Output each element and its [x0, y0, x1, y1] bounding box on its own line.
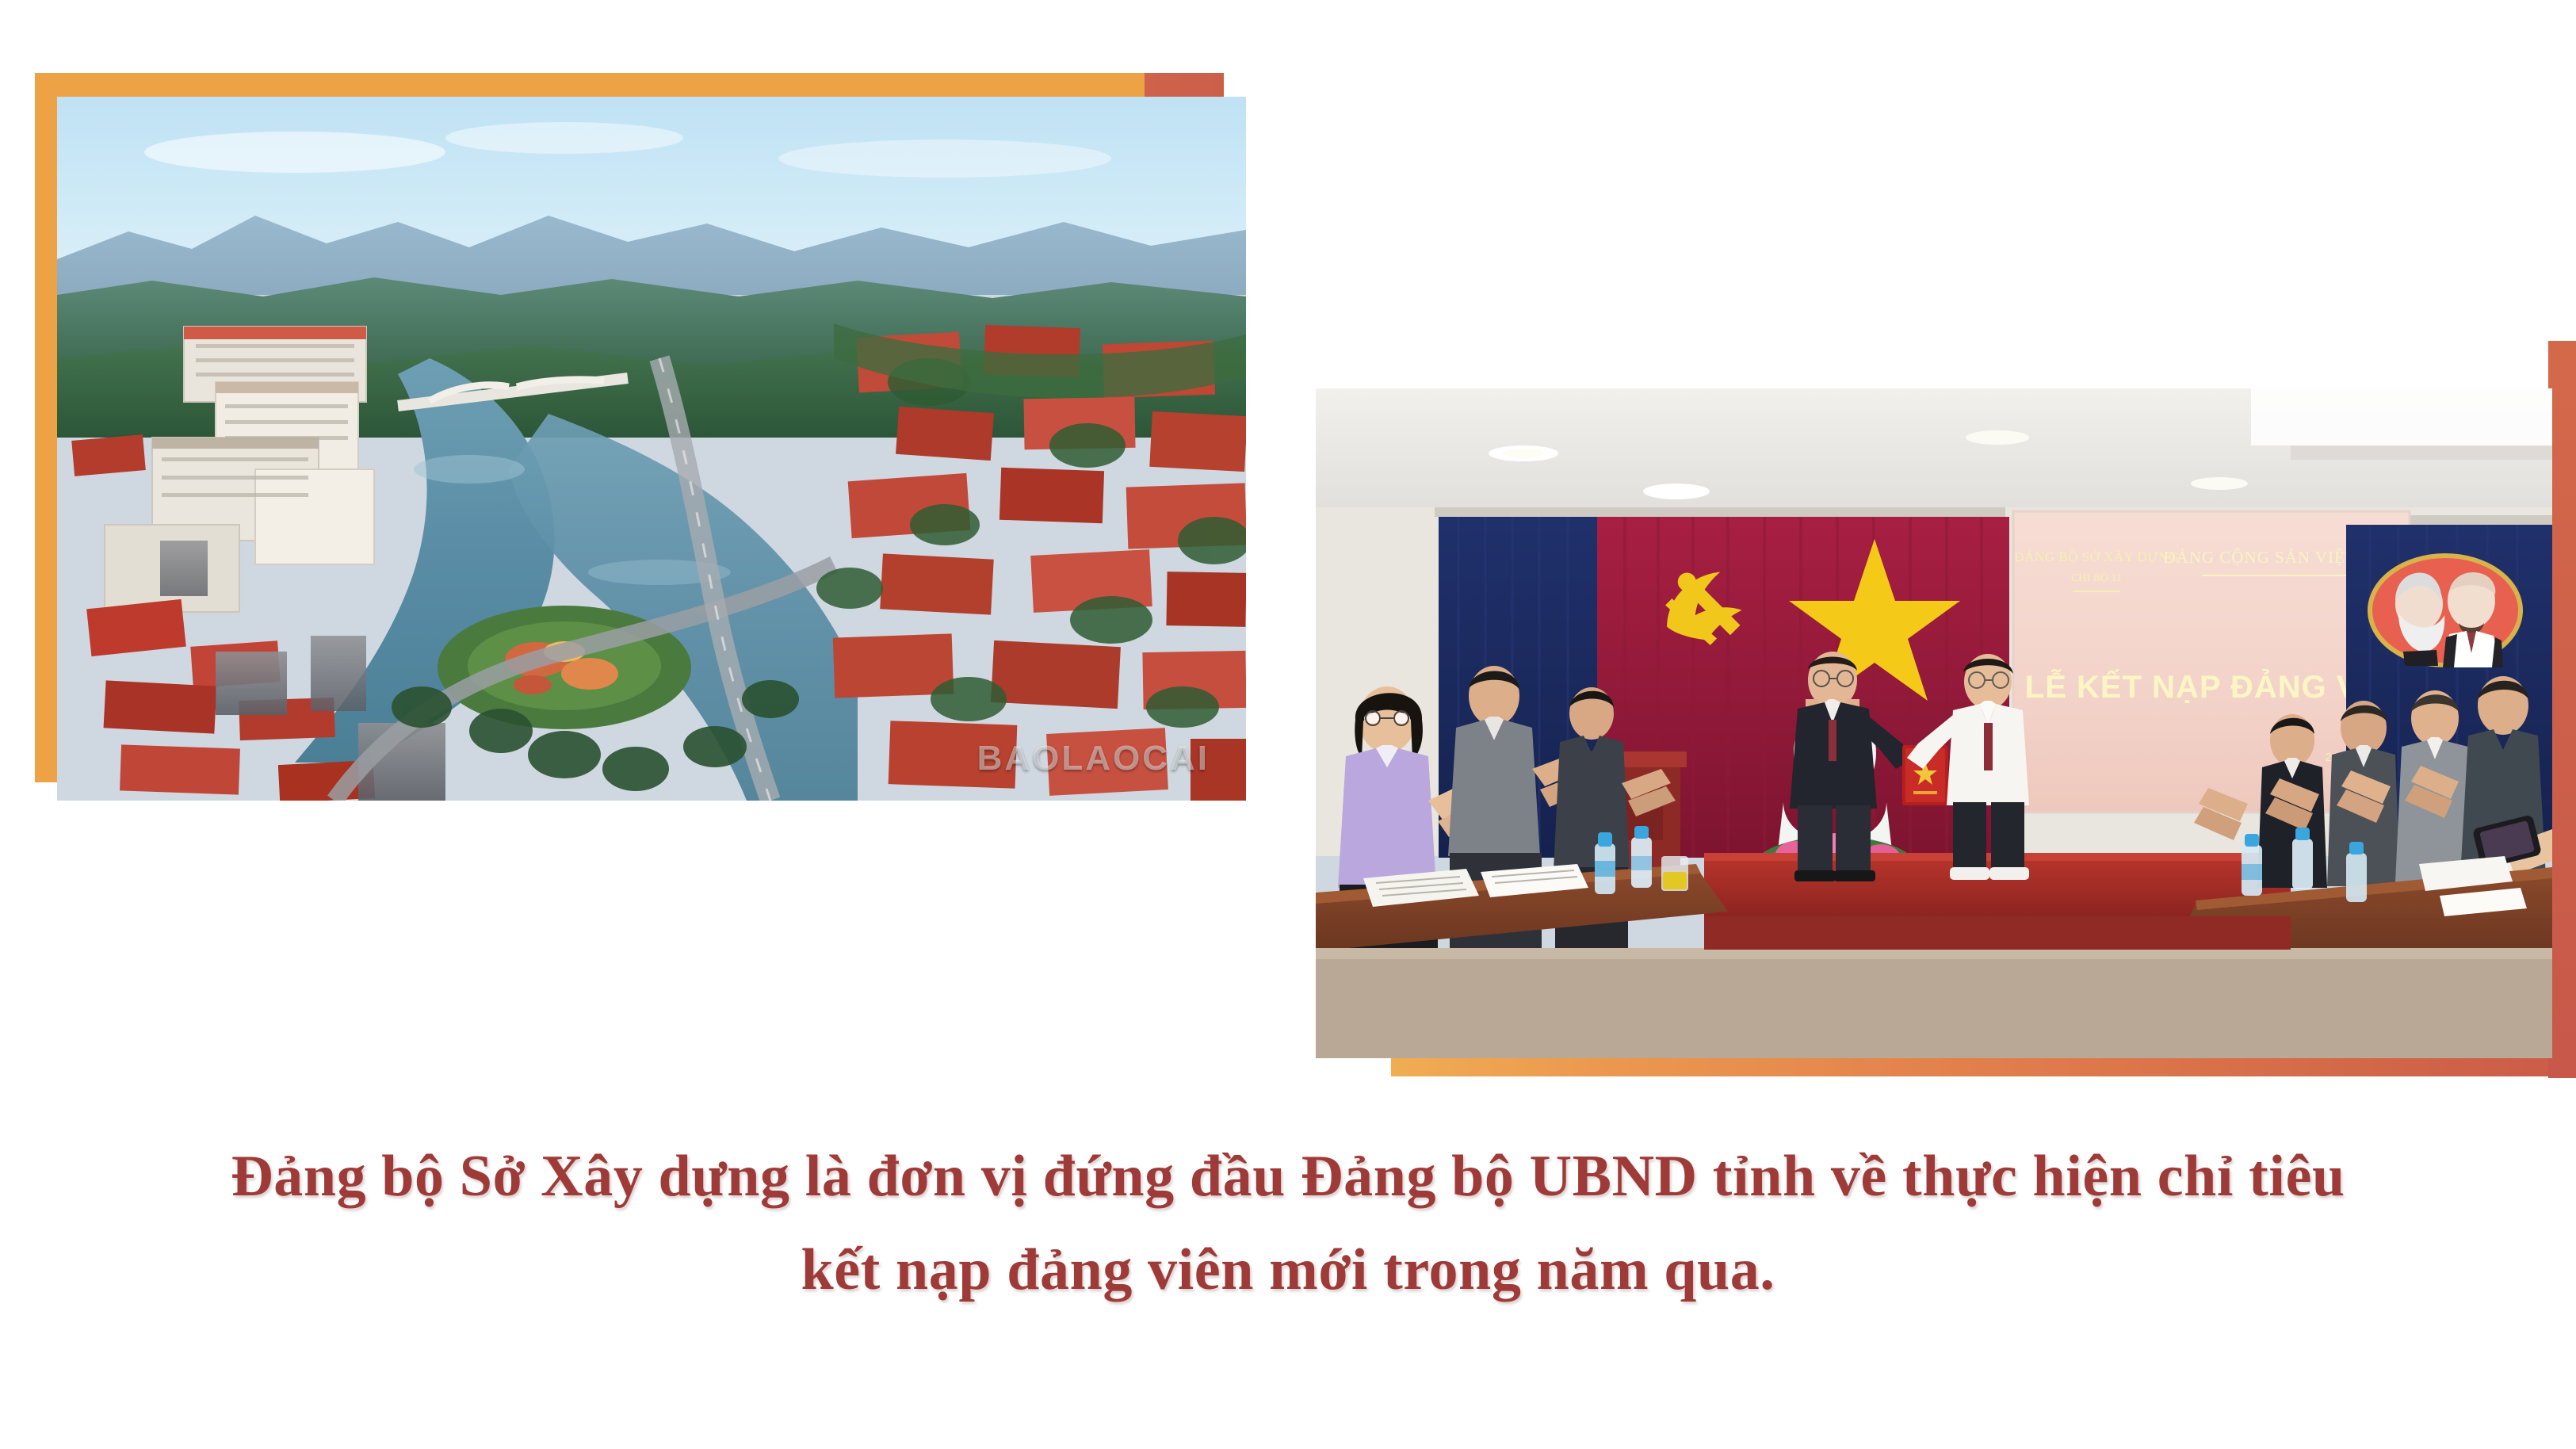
- ceremony-illustration: ĐẢNG BỘ SỞ XÂY DỰNG CHI BỘ 11 ĐẢNG CỘNG …: [1316, 388, 2552, 1058]
- ceremony-photo: ĐẢNG BỘ SỞ XÂY DỰNG CHI BỘ 11 ĐẢNG CỘNG …: [1316, 388, 2552, 1058]
- caption-line-2: kết nạp đảng viên mới trong năm qua.: [0, 1223, 2576, 1317]
- svg-text:CHI BỘ 11: CHI BỘ 11: [2071, 571, 2122, 584]
- svg-text:ĐẢNG BỘ SỞ XÂY DỰNG: ĐẢNG BỘ SỞ XÂY DỰNG: [2014, 549, 2178, 564]
- left-photo-block: BAOLAOCAI: [0, 0, 1300, 856]
- aerial-town-photo: BAOLAOCAI: [57, 97, 1246, 801]
- caption-line-1: Đảng bộ Sở Xây dựng là đơn vị đứng đầu Đ…: [0, 1130, 2576, 1223]
- photo-caption: Đảng bộ Sở Xây dựng là đơn vị đứng đầu Đ…: [0, 1130, 2576, 1317]
- right-photo-side-accent-bar: [2548, 341, 2576, 1078]
- right-photo-block: ĐẢNG BỘ SỞ XÂY DỰNG CHI BỘ 11 ĐẢNG CỘNG …: [1268, 333, 2576, 1126]
- page-canvas: BAOLAOCAI: [0, 0, 2576, 1449]
- aerial-town-illustration: [57, 97, 1246, 801]
